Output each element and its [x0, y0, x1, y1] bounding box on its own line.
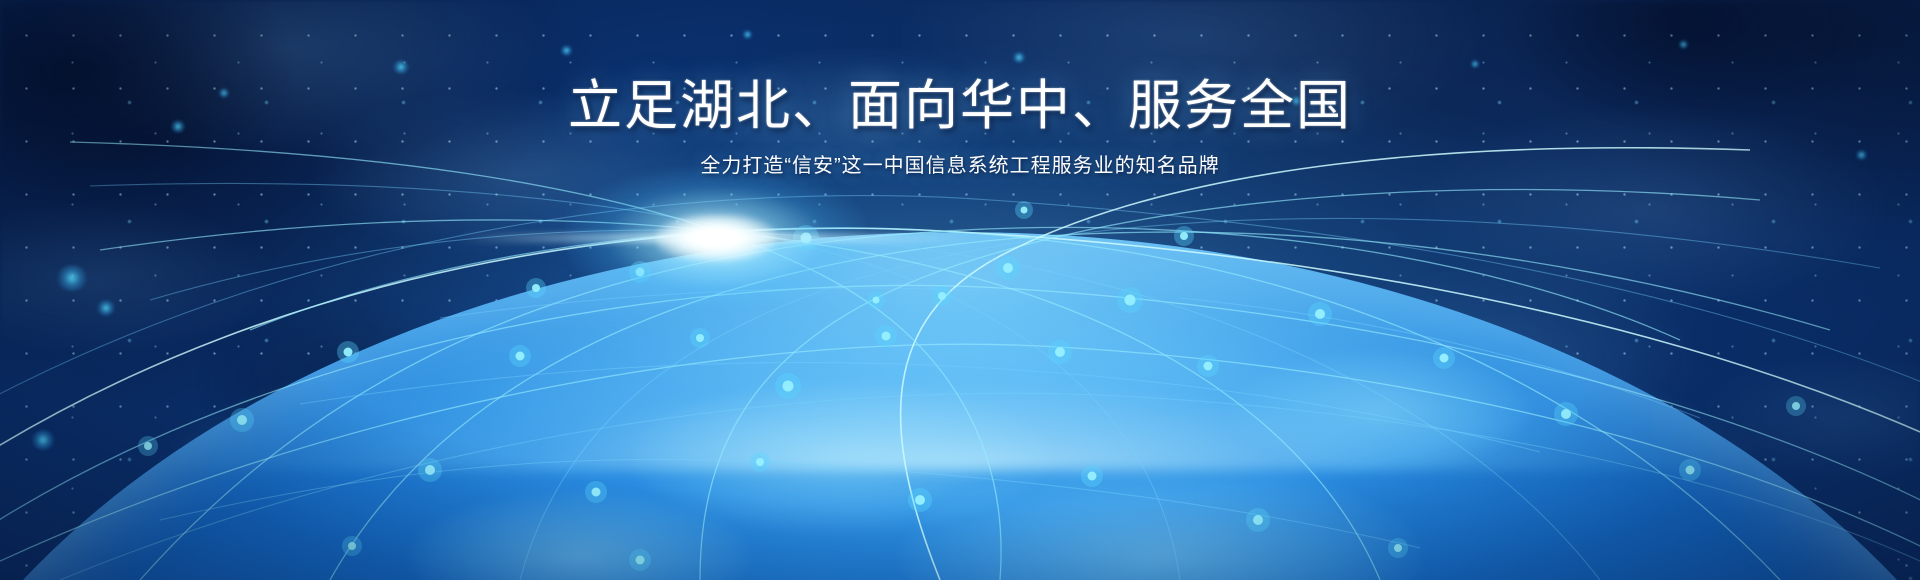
hero-banner: 立足湖北、面向华中、服务全国 全力打造“信安”这一中国信息系统工程服务业的知名品… — [0, 0, 1920, 580]
flare-core — [656, 215, 776, 261]
banner-subheadline: 全力打造“信安”这一中国信息系统工程服务业的知名品牌 — [0, 153, 1920, 179]
banner-copy: 立足湖北、面向华中、服务全国 全力打造“信安”这一中国信息系统工程服务业的知名品… — [0, 78, 1920, 179]
banner-headline: 立足湖北、面向华中、服务全国 — [0, 78, 1920, 135]
